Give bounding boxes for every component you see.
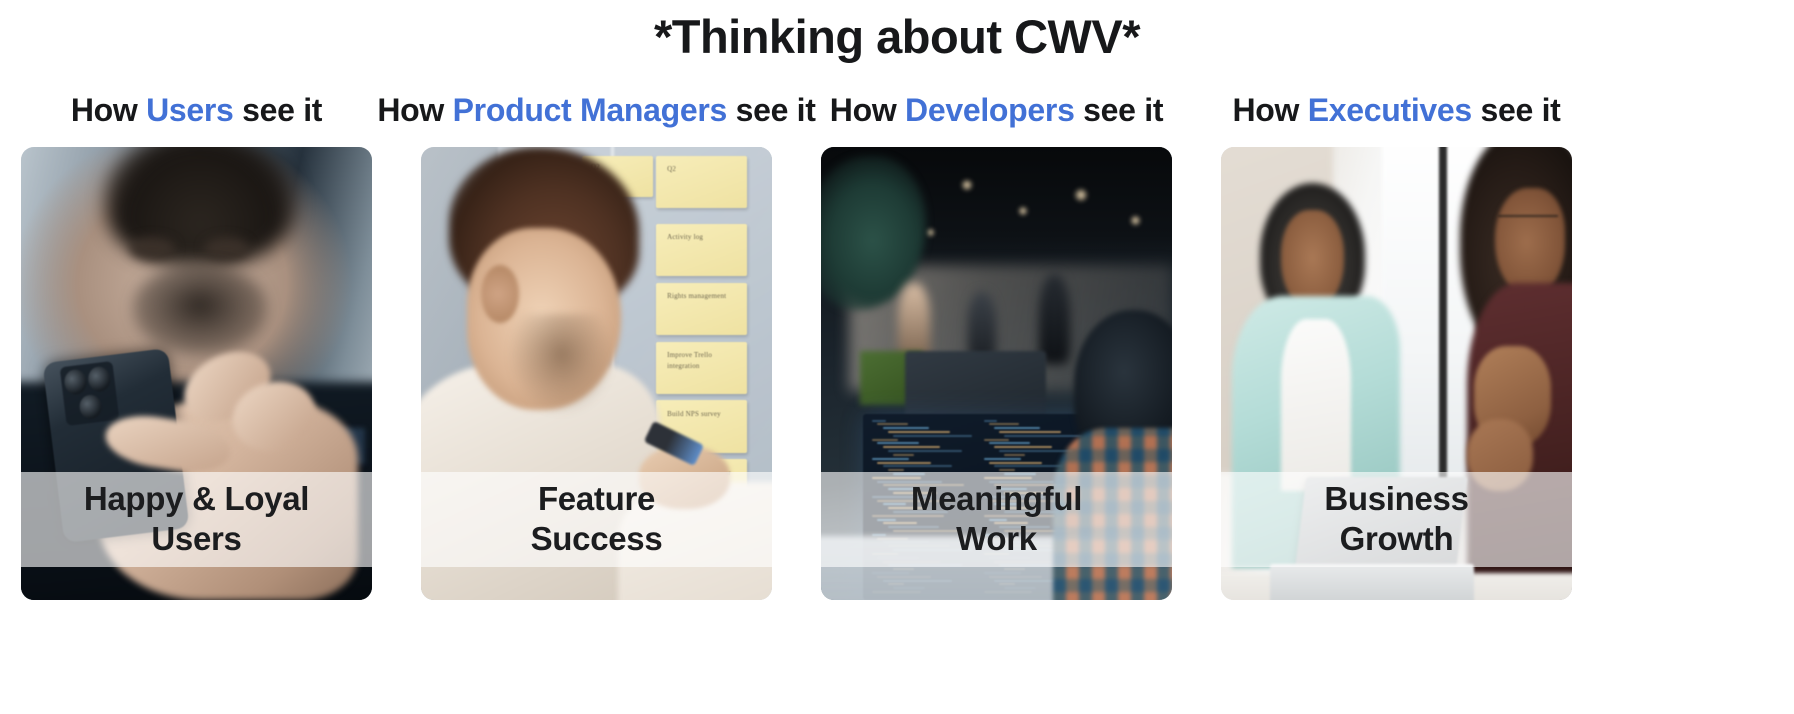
column-heading-developers: How Developers see it: [830, 92, 1163, 129]
heading-prefix: How: [71, 92, 146, 128]
photo-detail-face-left: [1281, 210, 1344, 310]
photo-detail-code-line: [989, 462, 1042, 464]
card-caption-product-managers: Feature Success: [531, 479, 663, 560]
heading-suffix: see it: [1472, 92, 1561, 128]
photo-detail-code-line: [872, 458, 909, 460]
photo-detail-code-line: [994, 427, 1040, 429]
sticky-note: Activity log: [656, 224, 747, 276]
photo-detail-code-line: [999, 431, 1062, 433]
column-developers: How Developers see it: [821, 92, 1172, 600]
sticky-note-text: Activity log: [667, 232, 738, 243]
heading-suffix: see it: [1075, 92, 1164, 128]
heading-accent: Users: [146, 92, 233, 128]
photo-detail-code-line: [994, 465, 1063, 467]
photo-detail-code-line: [883, 427, 929, 429]
photo-detail-code-line: [984, 439, 1009, 441]
photo-detail-beard: [509, 314, 614, 414]
photo-detail-code-line: [989, 442, 1031, 444]
photo-detail-code-line: [888, 431, 951, 433]
card-caption-users: Happy & Loyal Users: [84, 479, 309, 560]
card-caption-band-developers: Meaningful Work: [821, 472, 1172, 567]
sticky-note-text: Improve Trello integration: [667, 350, 738, 372]
photo-detail-code-line: [877, 442, 919, 444]
photo-detail-code-line: [877, 462, 930, 464]
photo-detail-code-line: [994, 446, 1052, 448]
heading-accent: Product Managers: [453, 92, 727, 128]
photo-detail-face-right: [1495, 188, 1565, 297]
photo-detail-window-frame: [1439, 147, 1447, 500]
photo-detail-code-line: [999, 450, 1073, 452]
photo-detail-code-line: [1004, 454, 1025, 456]
photo-detail-code-line: [872, 420, 886, 422]
heading-prefix: How: [830, 92, 905, 128]
photo-detail-code-line: [883, 465, 952, 467]
slide-root: *Thinking about CWV* How Users see it: [0, 0, 1794, 714]
photo-detail-code-line: [1004, 435, 1083, 437]
heading-suffix: see it: [234, 92, 323, 128]
photo-detail-eye-right: [204, 237, 250, 260]
sticky-note: Rights management: [656, 283, 747, 335]
photo-detail-ceiling-light: [1074, 188, 1088, 202]
photo-detail-eye-left: [130, 237, 176, 260]
photo-detail-code-line: [877, 423, 907, 425]
photo-detail-code-line: [893, 435, 972, 437]
heading-accent: Developers: [905, 92, 1075, 128]
photo-detail-tablet-keyboard: [1270, 564, 1474, 600]
photo-detail-glasses: [1498, 215, 1558, 231]
photo-detail-ceiling-light: [1130, 215, 1141, 226]
card-executives[interactable]: Business Growth: [1221, 147, 1572, 600]
sticky-note-text: Rights management: [667, 291, 738, 302]
photo-detail-code-line: [989, 423, 1019, 425]
heading-accent: Executives: [1308, 92, 1472, 128]
photo-detail-ceiling-light: [961, 179, 973, 191]
card-caption-executives: Business Growth: [1324, 479, 1468, 560]
photo-detail-code-line: [888, 450, 962, 452]
title-bar: *Thinking about CWV*: [0, 0, 1794, 72]
photo-detail-code-line: [872, 439, 897, 441]
sticky-note: Q2: [656, 156, 747, 208]
card-caption-band-product-managers: Feature Success: [421, 472, 772, 567]
heading-suffix: see it: [727, 92, 816, 128]
column-heading-users: How Users see it: [71, 92, 322, 129]
photo-detail-phone-camera: [60, 361, 119, 426]
heading-prefix: How: [377, 92, 452, 128]
sticky-note: Improve Trello integration: [656, 342, 747, 394]
photo-detail-background-person: [968, 292, 996, 360]
photo-detail-code-line: [893, 454, 914, 456]
photo-detail-ceiling-light: [1018, 206, 1028, 216]
sticky-note-text: Build NPS survey: [667, 409, 738, 420]
photo-detail-beard: [133, 265, 266, 356]
photo-detail-code-line: [883, 446, 941, 448]
column-users: How Users see it Happy: [21, 92, 372, 600]
card-caption-developers: Meaningful Work: [911, 479, 1082, 560]
column-product-managers: How Product Managers see it Q2 Q2 Activi…: [421, 92, 772, 600]
photo-detail-background-person: [898, 283, 930, 360]
card-product-managers[interactable]: Q2 Q2 Activity log Rights management Imp…: [421, 147, 772, 600]
photo-detail-code-line: [984, 420, 998, 422]
card-caption-band-executives: Business Growth: [1221, 472, 1572, 567]
column-executives: How Executives see it: [1221, 92, 1572, 600]
column-heading-product-managers: How Product Managers see it: [377, 92, 815, 129]
card-developers[interactable]: Meaningful Work: [821, 147, 1172, 600]
column-heading-executives: How Executives see it: [1232, 92, 1560, 129]
photo-detail-code-line: [984, 458, 1021, 460]
sticky-note-text: Q2: [667, 164, 738, 175]
photo-detail-white-top: [1281, 319, 1351, 491]
page-title: *Thinking about CWV*: [654, 13, 1140, 60]
heading-prefix: How: [1232, 92, 1307, 128]
card-caption-band-users: Happy & Loyal Users: [21, 472, 372, 567]
card-users[interactable]: Happy & Loyal Users: [21, 147, 372, 600]
column-grid: How Users see it Happy: [0, 92, 1794, 600]
